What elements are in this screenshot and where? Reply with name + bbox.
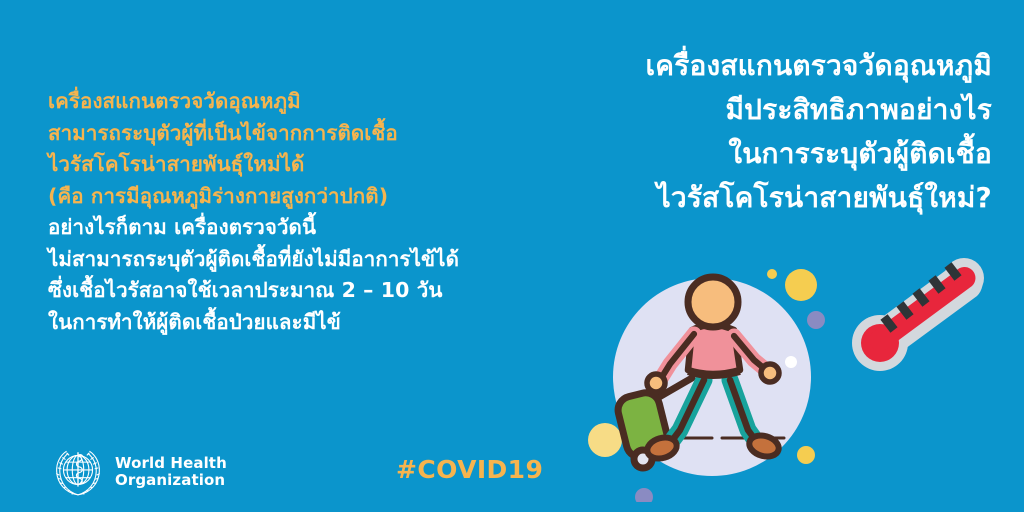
- dot-purple-bottom: [635, 488, 653, 502]
- dot-purple: [807, 311, 825, 329]
- who-wordmark-line-1: World Health: [115, 455, 227, 473]
- headline-line: มีประสิทธิภาพอย่างไร: [492, 88, 992, 132]
- who-logo: World Health Organization: [52, 446, 227, 498]
- body-line: เครื่องสแกนตรวจวัดอุณหภูมิ: [48, 86, 568, 118]
- body-line: (คือ การมีอุณหภูมิร่างกายสูงกว่าปกติ): [48, 181, 568, 213]
- body-line: สามารถระบุตัวผู้ที่เป็นไข้จากการติดเชื้อ: [48, 118, 568, 150]
- traveller-with-suitcase-illustration: [588, 252, 836, 502]
- headline-line: ไวรัสโคโรน่าสายพันธุ์ใหม่?: [492, 176, 992, 220]
- headline-line: เครื่องสแกนตรวจวัดอุณหภูมิ: [492, 44, 992, 88]
- body-line: ในการทำให้ผู้ติดเชื้อป่วยและมีไข้: [48, 307, 568, 339]
- headline-line: ในการระบุตัวผู้ติดเชื้อ: [492, 132, 992, 176]
- who-wordmark: World Health Organization: [115, 455, 227, 490]
- body-line: ซึ่งเชื้อไวรัสอาจใช้เวลาประมาณ 2 – 10 วั…: [48, 275, 568, 307]
- dot-yellow-large: [785, 269, 817, 301]
- hand-right: [761, 364, 779, 382]
- body-line: ไวรัสโคโรน่าสายพันธุ์ใหม่ได้: [48, 149, 568, 181]
- headline-block: เครื่องสแกนตรวจวัดอุณหภูมิ มีประสิทธิภาพ…: [492, 44, 992, 220]
- body-copy-block: เครื่องสแกนตรวจวัดอุณหภูมิ สามารถระบุตัว…: [48, 86, 568, 338]
- thermometer-mercury: [861, 267, 975, 362]
- dot-yellow-bottom-right: [797, 446, 815, 464]
- body-line: ไม่สามารถระบุตัวผู้ติดเชื้อที่ยังไม่มีอา…: [48, 244, 568, 276]
- thermometer-icon: [846, 250, 992, 386]
- who-wordmark-line-2: Organization: [115, 472, 227, 490]
- who-emblem-icon: [52, 446, 104, 498]
- hashtag-covid19: #COVID19: [396, 455, 543, 484]
- dot-white: [785, 356, 797, 368]
- dot-yellow-small: [767, 269, 777, 279]
- head: [688, 277, 738, 327]
- body-line: อย่างไรก็ตาม เครื่องตรวจวัดนี้: [48, 212, 568, 244]
- hand-left: [647, 374, 665, 392]
- dot-yellow-left: [588, 423, 622, 457]
- covid19-infographic-poster: เครื่องสแกนตรวจวัดอุณหภูมิ สามารถระบุตัว…: [0, 0, 1024, 512]
